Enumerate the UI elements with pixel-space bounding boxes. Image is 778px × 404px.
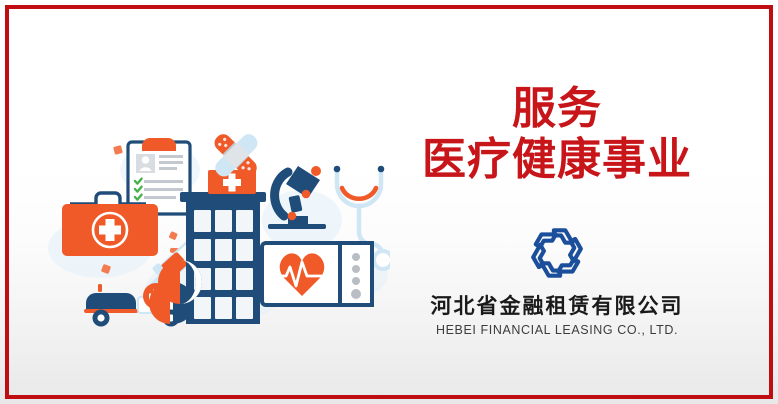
headline-line-2: 医疗健康事业 <box>392 137 722 184</box>
promotional-banner: 服务 医疗健康事业 <box>0 0 778 404</box>
headline: 服务 医疗健康事业 <box>392 86 722 183</box>
company-name-chinese: 河北省金融租赁有限公司 <box>392 290 722 320</box>
company-name-english: HEBEI FINANCIAL LEASING CO., LTD. <box>392 323 722 337</box>
stethoscope-accent <box>342 188 376 199</box>
ecg-heart-monitor-icon <box>262 243 372 305</box>
medical-illustration <box>40 100 390 340</box>
first-aid-kit-icon <box>62 193 158 256</box>
brand-block: 河北省金融租赁有限公司 HEBEI FINANCIAL LEASING CO.,… <box>392 222 722 337</box>
hebei-financial-leasing-logo-icon <box>526 222 588 284</box>
headline-line-1: 服务 <box>392 86 722 133</box>
